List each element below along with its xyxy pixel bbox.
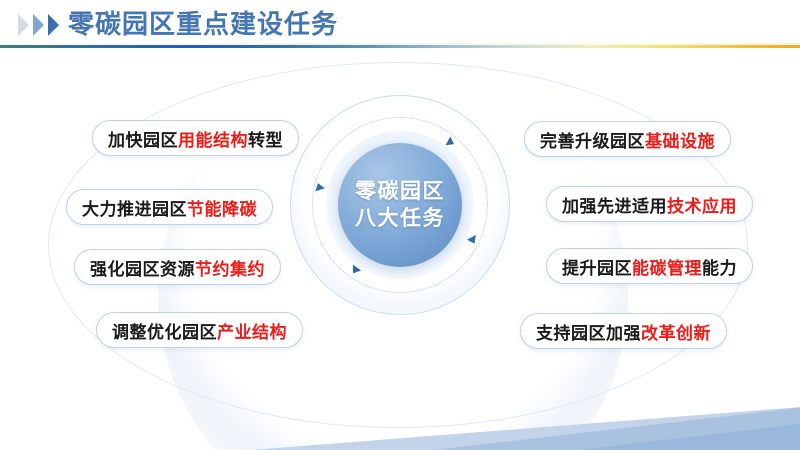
center-diagram: 零碳园区 八大任务 — [290, 95, 510, 315]
task-highlight: 节能降碳 — [187, 200, 257, 219]
task-pill-left-2[interactable]: 大力推进园区节能降碳 — [66, 189, 273, 225]
task-text: 提升园区能碳管理能力 — [562, 254, 737, 279]
center-label-line1: 零碳园区 — [355, 178, 445, 205]
task-highlight: 技术应用 — [667, 197, 737, 216]
task-pill-right-4[interactable]: 支持园区加强改革创新 — [520, 313, 727, 349]
task-pill-left-3[interactable]: 强化园区资源节约集约 — [74, 249, 281, 285]
center-label-line2: 八大任务 — [355, 205, 445, 232]
task-text: 加快园区用能结构转型 — [108, 126, 283, 151]
task-text: 支持园区加强改革创新 — [536, 319, 711, 344]
task-pill-left-4[interactable]: 调整优化园区产业结构 — [96, 312, 303, 348]
task-pill-left-1[interactable]: 加快园区用能结构转型 — [92, 120, 299, 156]
slide-root: 零碳园区重点建设任务 零碳园区 八大任务 加快园区用能结构转型 大力推进园区节能… — [0, 0, 800, 450]
slide-header: 零碳园区重点建设任务 — [0, 0, 800, 48]
header-divider — [0, 45, 800, 48]
chevron-group-icon — [18, 14, 70, 36]
task-pill-right-2[interactable]: 加强先进适用技术应用 — [546, 186, 753, 222]
task-text: 调整优化园区产业结构 — [112, 318, 287, 343]
task-highlight: 基础设施 — [645, 132, 715, 151]
task-text: 加强先进适用技术应用 — [562, 192, 737, 217]
task-pill-right-3[interactable]: 提升园区能碳管理能力 — [546, 248, 753, 284]
task-highlight: 改革创新 — [641, 324, 711, 343]
task-highlight: 产业结构 — [217, 323, 287, 342]
chevron-right-icon-light — [18, 14, 29, 36]
task-text: 完善升级园区基础设施 — [540, 127, 715, 152]
chevron-right-icon-mid — [33, 14, 44, 36]
task-text: 大力推进园区节能降碳 — [82, 195, 257, 220]
center-core-circle: 零碳园区 八大任务 — [338, 143, 462, 267]
chevron-right-icon-dark — [48, 14, 59, 36]
task-highlight: 节约集约 — [195, 260, 265, 279]
task-pill-right-1[interactable]: 完善升级园区基础设施 — [524, 121, 731, 157]
task-highlight: 能碳管理 — [632, 259, 702, 278]
page-title: 零碳园区重点建设任务 — [68, 7, 338, 41]
task-text: 强化园区资源节约集约 — [90, 255, 265, 280]
task-highlight: 用能结构 — [178, 131, 248, 150]
